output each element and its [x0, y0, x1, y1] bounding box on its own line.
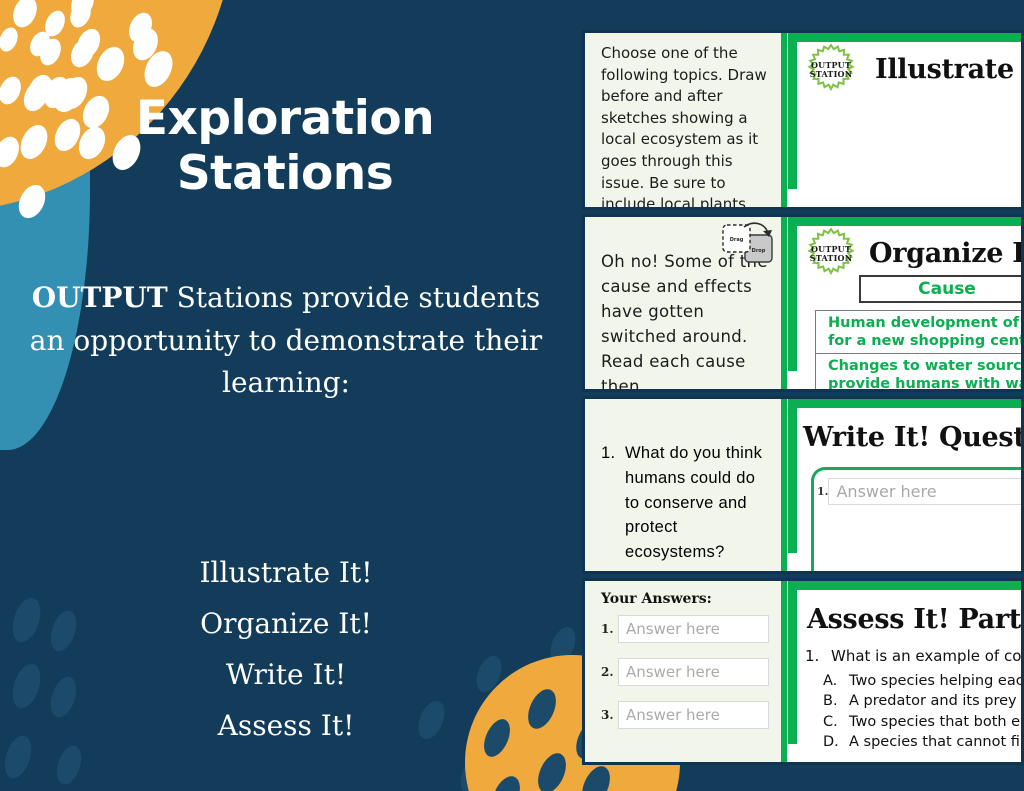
drop-label: Drop	[752, 248, 766, 254]
your-answers-panel: Your Answers: 1. Answer here 2. Answer h…	[585, 581, 781, 762]
card-instructions-panel: Choose one of the following topics. Draw…	[585, 33, 781, 207]
station-list: Illustrate It! Organize It! Write It! As…	[26, 548, 546, 752]
green-top-bar	[788, 33, 1021, 42]
choice-item[interactable]: A. Two species helping each	[823, 671, 1021, 692]
green-left-bar	[788, 399, 797, 553]
card-preview-panel: Assess It! Part 1 1. What is an example …	[787, 581, 1021, 762]
next-question-partial: 2. What is...	[807, 761, 1021, 762]
question-block: 1. What is an example of com A. Two spec…	[805, 645, 1021, 762]
choice-item[interactable]: D. A species that cannot fin	[823, 732, 1021, 753]
answer-input[interactable]: Answer here	[618, 701, 769, 729]
answer-placeholder: Answer here	[626, 620, 720, 638]
choice-item[interactable]: B. A predator and its prey	[823, 691, 1021, 712]
card-instructions-text: 1. What do you think humans could do to …	[601, 409, 769, 565]
your-answer-row[interactable]: 2. Answer here	[601, 658, 769, 686]
drag-drop-icon: Drag Drop	[719, 221, 775, 267]
card-preview-panel: Write It! Question 1. Answer here	[787, 399, 1021, 571]
choice-item[interactable]: C. Two species that both ea	[823, 712, 1021, 733]
intro-keyword: OUTPUT	[32, 281, 168, 314]
question-number: 1.	[805, 645, 831, 668]
page-title: Exploration Stations	[40, 92, 530, 201]
green-left-bar	[788, 33, 797, 189]
choice-letter: B.	[823, 691, 849, 712]
card-instructions-panel: Oh no! Some of the cause and effects hav…	[585, 217, 781, 389]
page-title-line-2: Stations	[40, 147, 530, 202]
answer-input[interactable]: Answer here	[618, 615, 769, 643]
answer-input[interactable]: 1. Answer here	[828, 478, 1021, 505]
choice-text: Two species that both ea	[849, 712, 1021, 733]
badge-line-2: STATION	[810, 70, 852, 79]
answer-number: 3.	[601, 708, 618, 722]
cause-row[interactable]: Human development of lafor a new shoppin…	[815, 310, 1021, 353]
choice-letter: D.	[823, 732, 849, 753]
badge-text: OUTPUT STATION	[805, 44, 857, 96]
card-title: Write It! Question	[799, 414, 1021, 453]
station-card-write-it[interactable]: 1. What do you think humans could do to …	[582, 396, 1024, 574]
intro-panel: Exploration Stations OUTPUT Stations pro…	[0, 0, 566, 791]
answer-input[interactable]: Answer here	[618, 658, 769, 686]
choice-letter: C.	[823, 712, 849, 733]
station-list-item: Organize It!	[26, 599, 546, 650]
question-text: What is an example of com	[831, 645, 1021, 668]
card-preview-panel: OUTPUT STATION Illustrate It!	[787, 33, 1021, 207]
card-instructions-panel: 1. What do you think humans could do to …	[585, 399, 781, 571]
green-top-bar	[788, 217, 1021, 226]
instruction-body: What do you think humans could do to con…	[625, 441, 769, 565]
station-list-item: Illustrate It!	[26, 548, 546, 599]
green-left-bar	[788, 217, 797, 371]
answer-frame: 1. Answer here	[811, 467, 1021, 571]
station-list-item: Write It!	[26, 650, 546, 701]
green-top-bar	[788, 581, 1021, 590]
green-top-bar	[788, 399, 1021, 408]
station-card-illustrate-it[interactable]: Choose one of the following topics. Draw…	[582, 30, 1024, 210]
choice-text: Two species helping each	[849, 671, 1021, 692]
intro-paragraph: OUTPUT Stations provide students an oppo…	[26, 277, 546, 405]
output-station-badge: OUTPUT STATION	[805, 44, 857, 96]
slide-canvas: Exploration Stations OUTPUT Stations pro…	[0, 0, 1024, 791]
cause-row-list: Human development of lafor a new shoppin…	[815, 310, 1021, 389]
choice-letter: A.	[823, 671, 849, 692]
your-answers-header: Your Answers:	[601, 591, 769, 607]
card-preview-panel: OUTPUT STATION Organize It! Cause Human …	[787, 217, 1021, 389]
green-left-bar	[788, 581, 797, 744]
drag-label: Drag	[730, 237, 744, 243]
question-line: 1. What is an example of com	[805, 645, 1021, 668]
answer-number: 1.	[817, 485, 828, 498]
cause-column-header: Cause	[859, 275, 1021, 303]
answer-number: 1.	[601, 622, 618, 636]
answer-placeholder: Answer here	[836, 482, 936, 501]
station-list-item: Assess It!	[26, 701, 546, 752]
answer-placeholder: Answer here	[626, 706, 720, 724]
your-answer-row[interactable]: 1. Answer here	[601, 615, 769, 643]
choice-text: A species that cannot fin	[849, 732, 1021, 753]
answer-placeholder: Answer here	[626, 663, 720, 681]
station-card-stack: Choose one of the following topics. Draw…	[582, 0, 1024, 791]
cause-row[interactable]: Changes to water sourcesprovide humans w…	[815, 353, 1021, 389]
your-answer-row[interactable]: 3. Answer here	[601, 701, 769, 729]
card-title: Assess It! Part 1	[803, 596, 1021, 635]
choice-text: A predator and its prey	[849, 691, 1017, 712]
card-instructions-text: Choose one of the following topics. Draw…	[601, 43, 769, 207]
page-title-line-1: Exploration	[40, 92, 530, 147]
instruction-number: 1.	[601, 441, 625, 565]
station-card-assess-it[interactable]: Your Answers: 1. Answer here 2. Answer h…	[582, 578, 1024, 765]
badge-text: OUTPUT STATION	[805, 228, 857, 280]
answer-number: 2.	[601, 665, 618, 679]
choice-list: A. Two species helping each B. A predato…	[823, 671, 1021, 753]
badge-line-2: STATION	[810, 254, 852, 263]
station-card-organize-it[interactable]: Oh no! Some of the cause and effects hav…	[582, 214, 1024, 392]
output-station-badge: OUTPUT STATION	[805, 228, 857, 280]
